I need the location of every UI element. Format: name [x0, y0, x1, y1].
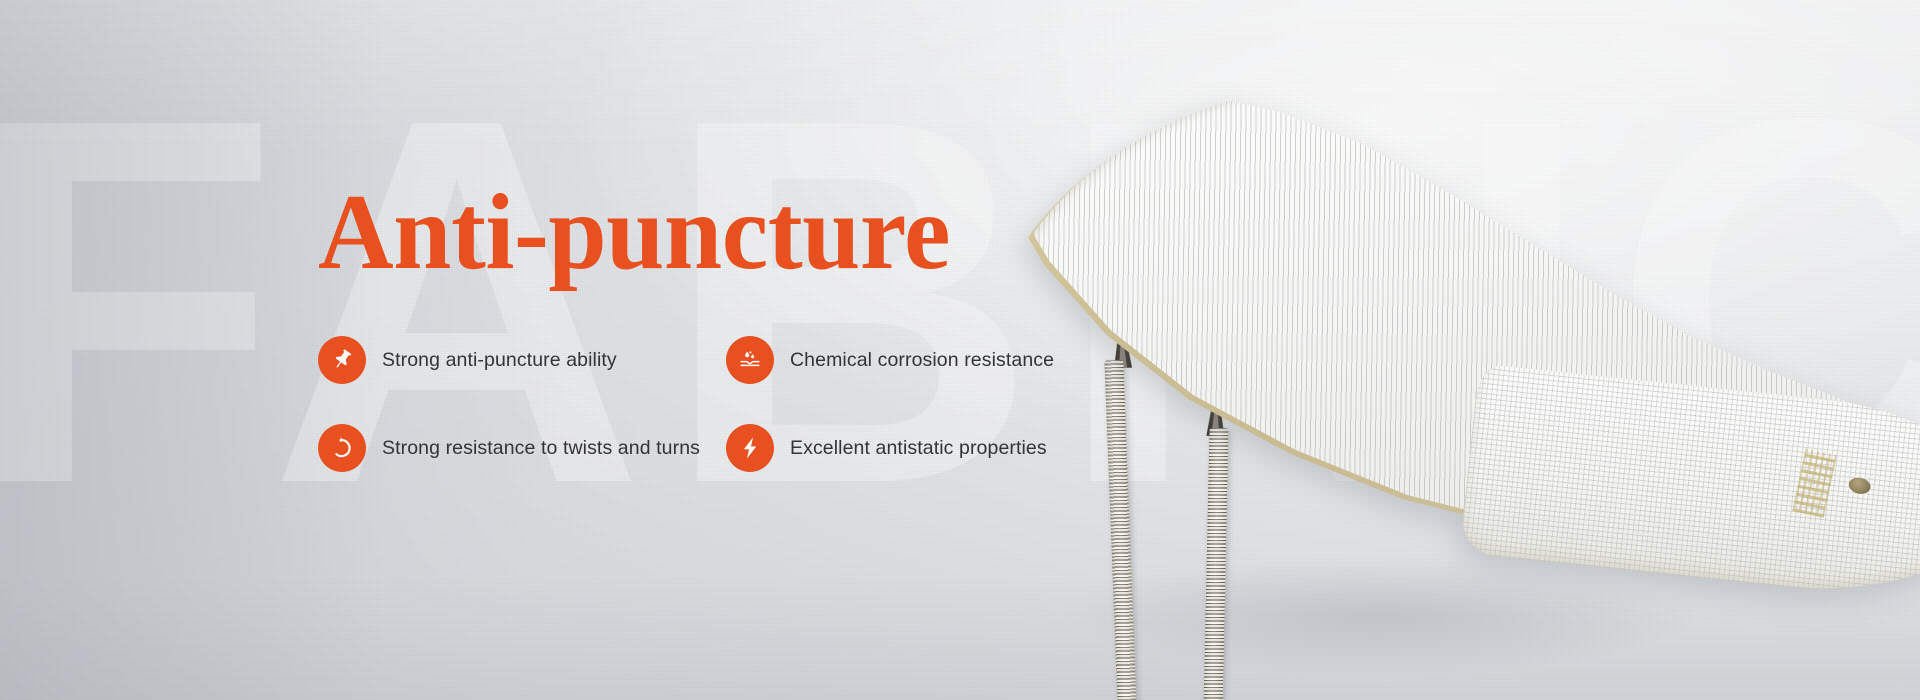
- nail-tip-left: [1112, 312, 1132, 369]
- fabric-eyelet-hole: [1847, 476, 1872, 496]
- product-ground-shadow: [1060, 556, 1700, 676]
- fabric-printed-marking: [1792, 448, 1837, 517]
- feature-label: Strong resistance to twists and turns: [382, 437, 700, 460]
- anti-puncture-banner: FABRIC Anti-puncture: [0, 0, 1920, 700]
- page-title: Anti-puncture: [318, 178, 1075, 288]
- lightning-bolt-icon: [726, 424, 774, 472]
- banner-content: Anti-puncture Strong anti-puncture abili…: [318, 178, 1098, 472]
- fabric-strip-tail: [1459, 363, 1920, 606]
- nail-left: [1104, 360, 1138, 700]
- rotate-arrow-icon: [318, 424, 366, 472]
- nail-right: [1203, 428, 1229, 700]
- feature-item-chemical-corrosion[interactable]: Chemical corrosion resistance: [726, 336, 1098, 384]
- nail-tip-right: [1206, 380, 1225, 436]
- fabric-strip: [1020, 60, 1920, 700]
- feature-item-antistatic[interactable]: Excellent antistatic properties: [726, 424, 1098, 472]
- fabric-strip-body: [976, 71, 1920, 559]
- feature-label: Chemical corrosion resistance: [790, 349, 1054, 372]
- product-photo: [1020, 60, 1920, 700]
- pushpin-icon: [318, 336, 366, 384]
- fabric-strip-edge: [971, 75, 1920, 563]
- feature-item-twist-resistance[interactable]: Strong resistance to twists and turns: [318, 424, 726, 472]
- feature-list: Strong anti-puncture ability Chemical co…: [318, 336, 1098, 472]
- feature-label: Strong anti-puncture ability: [382, 349, 617, 372]
- feature-label: Excellent antistatic properties: [790, 437, 1047, 460]
- droplet-surface-icon: [726, 336, 774, 384]
- feature-item-anti-puncture[interactable]: Strong anti-puncture ability: [318, 336, 726, 384]
